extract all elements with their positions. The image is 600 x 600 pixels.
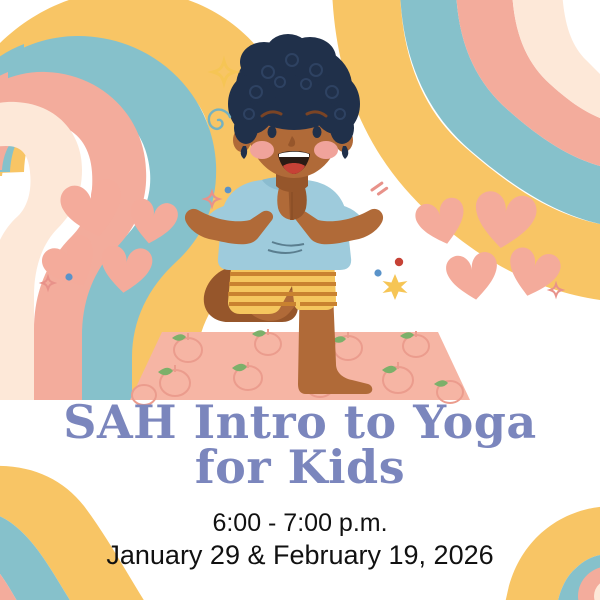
dot-blue: [225, 187, 232, 194]
dot-red: [395, 258, 403, 266]
event-details: 6:00 - 7:00 p.m. January 29 & February 1…: [0, 490, 600, 571]
sparkle-diamond-salmon: [205, 192, 219, 206]
event-dates: January 29 & February 19, 2026: [0, 539, 600, 572]
dot-blue: [374, 269, 381, 276]
sparkle-diamond-yellow: [213, 61, 235, 83]
sparkle-diamond-salmon: [42, 277, 54, 289]
title-line-2: for Kids: [30, 445, 570, 490]
dot-blue: [65, 273, 72, 280]
text-block: SAH Intro to Yogafor Kids 6:00 - 7:00 p.…: [0, 400, 600, 572]
swirl-teal: [209, 110, 230, 129]
star-burst-yellow: [383, 274, 408, 300]
yoga-flyer-poster: SAH Intro to Yogafor Kids 6:00 - 7:00 p.…: [0, 0, 600, 600]
sparkle-diamond-salmon: [550, 284, 562, 296]
page-title: SAH Intro to Yogafor Kids: [0, 400, 600, 490]
event-time: 6:00 - 7:00 p.m.: [0, 508, 600, 539]
motion-lines-salmon: [372, 183, 387, 196]
